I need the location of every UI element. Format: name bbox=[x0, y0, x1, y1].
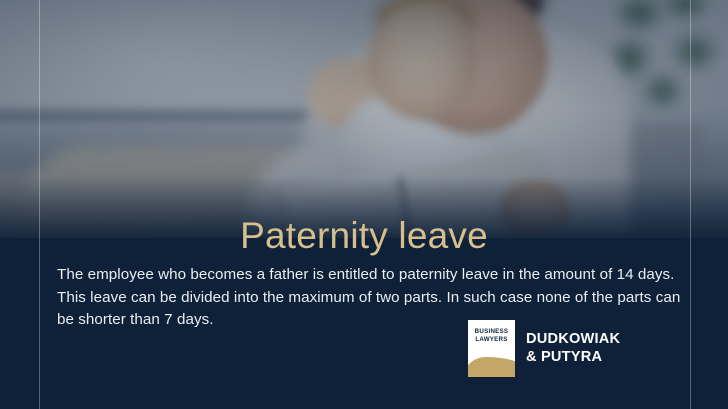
logo-gold-swoosh-icon bbox=[468, 357, 515, 377]
vertical-rule-right bbox=[690, 0, 691, 409]
vertical-rule-left bbox=[39, 0, 40, 409]
slide-canvas: Paternity leave The employee who becomes… bbox=[0, 0, 728, 409]
logo-mark-line-2: LAWYERS bbox=[468, 336, 515, 344]
business-lawyers-logo-mark: BUSINESS LAWYERS bbox=[468, 320, 515, 377]
firm-name: DUDKOWIAK & PUTYRA bbox=[526, 331, 620, 366]
firm-name-line-1: DUDKOWIAK bbox=[526, 331, 620, 349]
slide-title: Paternity leave bbox=[0, 214, 728, 258]
brand-logo-lockup[interactable]: BUSINESS LAWYERS DUDKOWIAK & PUTYRA bbox=[468, 320, 620, 377]
firm-name-line-2: & PUTYRA bbox=[526, 349, 620, 367]
hero-photo bbox=[0, 0, 728, 240]
logo-mark-text: BUSINESS LAWYERS bbox=[468, 328, 515, 345]
logo-mark-line-1: BUSINESS bbox=[468, 328, 515, 336]
